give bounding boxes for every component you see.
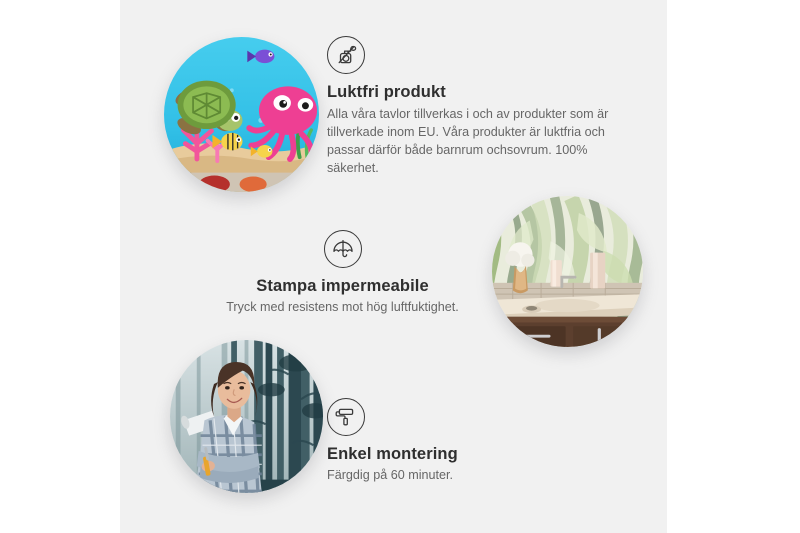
ocean-cartoon-photo: [164, 37, 319, 192]
umbrella-icon: [324, 230, 362, 268]
feature-title: Luktfri produkt: [327, 83, 627, 102]
no-fragrance-spray-icon: [327, 36, 365, 74]
feature-infographic-panel: Luktfri produkt Alla våra tavlor tillver…: [120, 0, 667, 533]
paint-roller-icon: [327, 398, 365, 436]
feature-title: Enkel montering: [327, 445, 577, 464]
feature-odour-free: Luktfri produkt Alla våra tavlor tillver…: [327, 36, 627, 178]
feature-easy-mounting: Enkel montering Färgdig på 60 minuter.: [327, 398, 577, 482]
feature-body: Tryck med resistens mot hög luftfuktighe…: [220, 300, 465, 314]
bathroom-interior-photo: [492, 196, 643, 347]
feature-waterproof-print: Stampa impermeabile Tryck med resistens …: [220, 230, 465, 314]
feature-title: Stampa impermeabile: [220, 277, 465, 296]
feature-body: Färgdig på 60 minuter.: [327, 468, 577, 482]
feature-body: Alla våra tavlor tillverkas i och av pro…: [327, 106, 627, 178]
woman-paint-roller-photo: [170, 340, 323, 493]
